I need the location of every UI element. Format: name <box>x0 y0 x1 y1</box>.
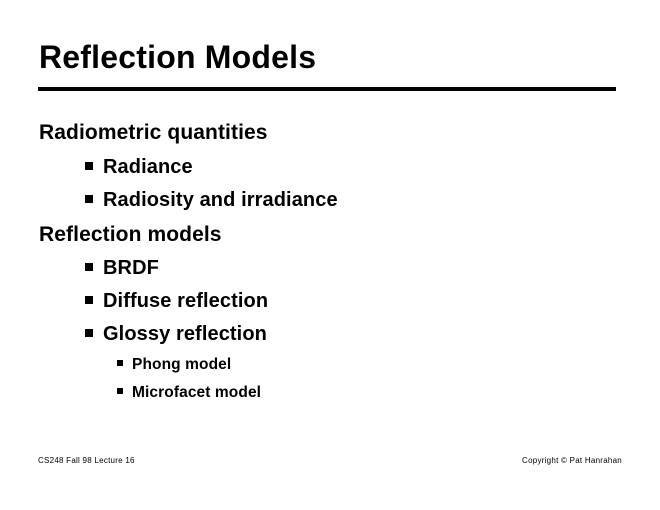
list-item: Microfacet model <box>117 384 261 402</box>
page-title: Reflection Models <box>39 41 316 75</box>
footer-course-info: CS248 Fall 98 Lecture 16 <box>38 456 135 465</box>
square-bullet-icon <box>85 329 93 337</box>
list-item-label: Reflection models <box>39 223 222 247</box>
square-bullet-icon <box>85 162 93 170</box>
list-item-label: Glossy reflection <box>103 323 267 346</box>
footer-copyright: Copyright © Pat Hanrahan <box>522 456 622 465</box>
list-item-label: Diffuse reflection <box>103 290 268 313</box>
list-item: Radiosity and irradiance <box>85 189 338 212</box>
list-item: Diffuse reflection <box>85 290 268 313</box>
list-item: Phong model <box>117 356 231 374</box>
list-item-label: Radiosity and irradiance <box>103 189 338 212</box>
square-bullet-icon <box>85 195 93 203</box>
list-item-label: BRDF <box>103 257 159 280</box>
list-item-label: Radiance <box>103 156 193 179</box>
square-bullet-icon <box>85 296 93 304</box>
list-item: Radiance <box>85 156 193 179</box>
presentation-slide: Reflection Models Radiometric quantities… <box>0 0 660 510</box>
list-item-label: Radiometric quantities <box>39 121 268 145</box>
list-item: Reflection models <box>39 223 222 247</box>
list-item: BRDF <box>85 257 159 280</box>
list-item-label: Phong model <box>132 356 231 374</box>
list-item: Glossy reflection <box>85 323 267 346</box>
square-bullet-icon <box>85 263 93 271</box>
title-divider <box>38 87 616 91</box>
square-bullet-icon <box>117 388 123 394</box>
list-item-label: Microfacet model <box>132 384 261 402</box>
list-item: Radiometric quantities <box>39 121 268 145</box>
square-bullet-icon <box>117 360 123 366</box>
